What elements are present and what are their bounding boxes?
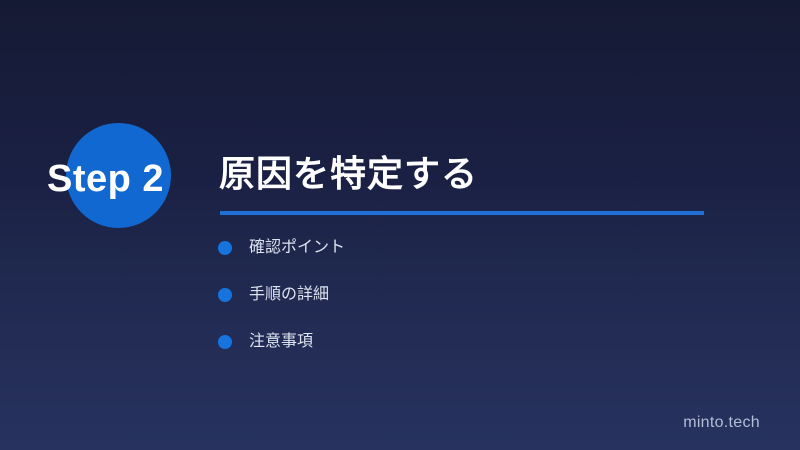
presentation-slide: Step 2 原因を特定する 確認ポイント 手順の詳細 注意事項 minto.t… bbox=[0, 0, 800, 450]
list-item: 手順の詳細 bbox=[218, 285, 688, 332]
step-badge-label: Step 2 bbox=[47, 155, 207, 203]
list-item: 注意事項 bbox=[218, 332, 688, 379]
list-item-label: 手順の詳細 bbox=[249, 285, 329, 305]
list-item-label: 注意事項 bbox=[249, 332, 313, 352]
bullet-dot-icon bbox=[218, 241, 232, 255]
bullet-dot-icon bbox=[218, 335, 232, 349]
bullet-list: 確認ポイント 手順の詳細 注意事項 bbox=[218, 238, 688, 379]
list-item: 確認ポイント bbox=[218, 238, 688, 285]
title-divider bbox=[220, 211, 704, 215]
slide-title: 原因を特定する bbox=[219, 150, 478, 198]
bullet-dot-icon bbox=[218, 288, 232, 302]
footer-brand: minto.tech bbox=[683, 413, 760, 433]
list-item-label: 確認ポイント bbox=[249, 238, 345, 258]
